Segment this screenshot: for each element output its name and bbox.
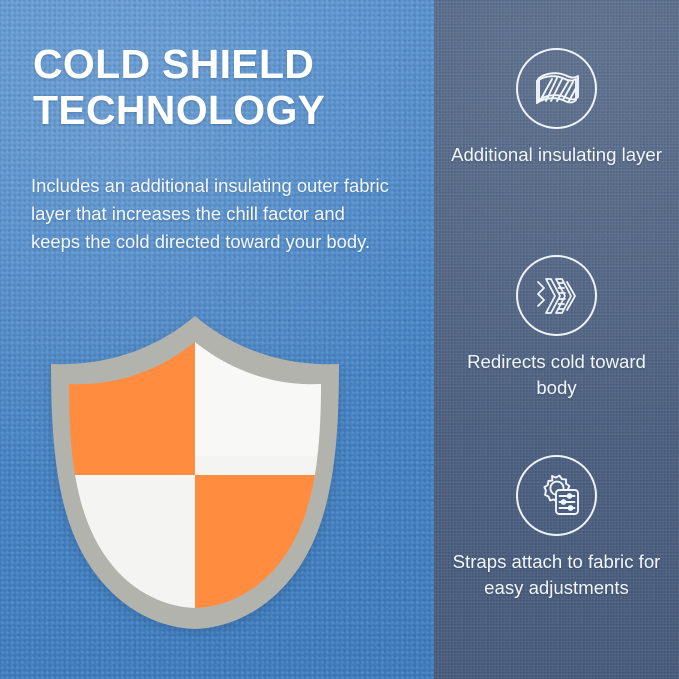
layered-chevrons-icon: [532, 273, 582, 319]
feature-list: Additional insulating layer: [434, 0, 679, 679]
shield-emblem: [44, 310, 346, 635]
icon-circle-frame: [516, 255, 597, 336]
icon-circle-frame: [516, 455, 597, 536]
description-text: Includes an additional insulating outer …: [31, 172, 391, 256]
feature-label: Straps attach to fabric for easy adjustm…: [449, 549, 664, 602]
feature-item-straps-attach-for-adjustments[interactable]: Straps attach to fabric for easy adjustm…: [434, 455, 679, 602]
fabric-layer-icon: [532, 67, 582, 111]
page-title: COLD SHIELD TECHNOLOGY: [33, 42, 405, 134]
gear-settings-sliders-icon: [532, 472, 582, 520]
feature-item-additional-insulating-layer[interactable]: Additional insulating layer: [434, 48, 679, 168]
feature-label: Redirects cold toward body: [449, 349, 664, 402]
feature-item-redirects-cold-toward-body[interactable]: Redirects cold toward body: [434, 255, 679, 402]
infographic-canvas: COLD SHIELD TECHNOLOGY Includes an addit…: [0, 0, 679, 679]
feature-label: Additional insulating layer: [451, 142, 662, 168]
icon-circle-frame: [516, 48, 597, 129]
